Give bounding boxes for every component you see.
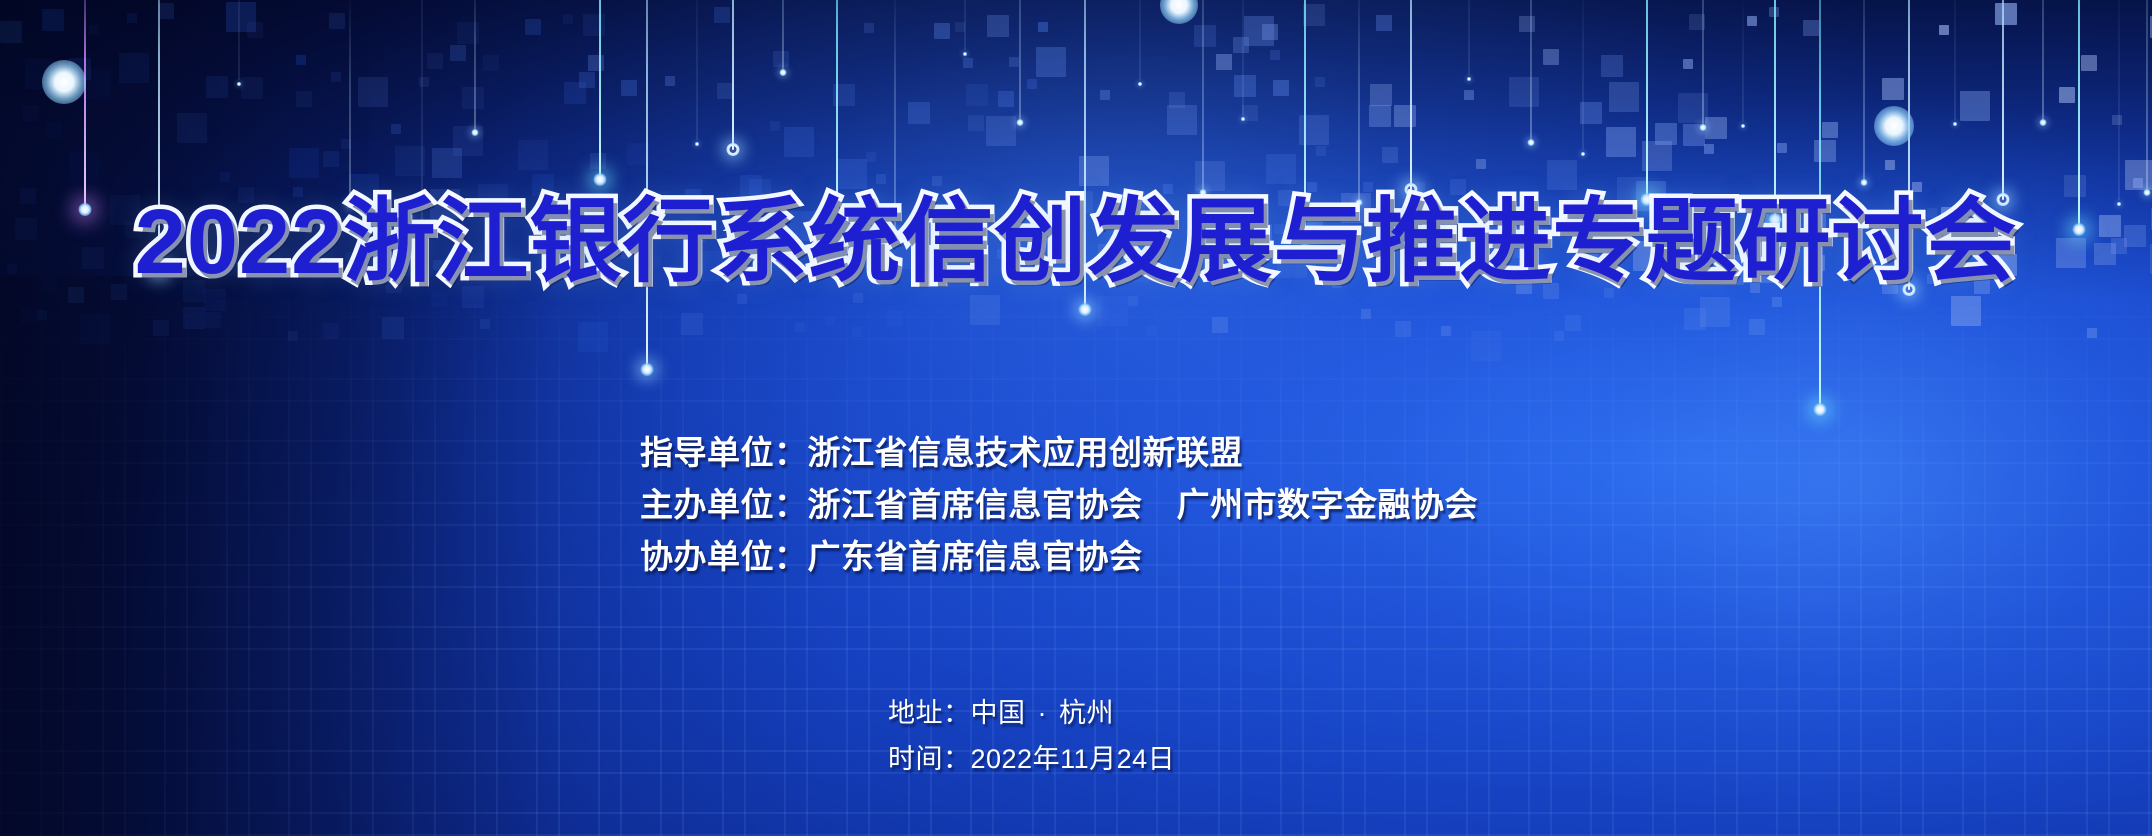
organizer-label: 指导单位：: [640, 434, 808, 471]
meta-label-date: 时间：: [888, 744, 971, 774]
meta-value-country: 中国: [971, 698, 1026, 728]
organizer-row-host: 主办单位：浙江省首席信息官协会广州市数字金融协会: [640, 479, 1478, 531]
organizer-value: 浙江省信息技术应用创新联盟: [808, 434, 1244, 471]
meta-value-date: 2022年11月24日: [971, 744, 1176, 774]
meta-row-date: 时间：2022年11月24日: [888, 736, 1175, 782]
conference-banner: 2022浙江银行系统信创发展与推进专题研讨会 指导单位：浙江省信息技术应用创新联…: [0, 0, 2152, 836]
organizer-value: 广东省首席信息官协会: [808, 538, 1143, 575]
meta-row-location: 地址：中国·杭州: [888, 690, 1175, 736]
organizer-value-secondary: 广州市数字金融协会: [1177, 486, 1479, 523]
organizer-label: 协办单位：: [640, 538, 808, 575]
meta-value-city: 杭州: [1059, 698, 1114, 728]
meta-separator-dot: ·: [1026, 690, 1060, 736]
organizer-row-guidance: 指导单位：浙江省信息技术应用创新联盟: [640, 427, 1478, 479]
organizer-list: 指导单位：浙江省信息技术应用创新联盟 主办单位：浙江省首席信息官协会广州市数字金…: [640, 427, 1478, 583]
organizer-value: 浙江省首席信息官协会: [808, 486, 1143, 523]
organizer-label: 主办单位：: [640, 486, 808, 523]
organizer-row-cohost: 协办单位：广东省首席信息官协会: [640, 531, 1478, 583]
event-meta: 地址：中国·杭州 时间：2022年11月24日: [888, 690, 1175, 782]
meta-label-location: 地址：: [888, 698, 971, 728]
page-title: 2022浙江银行系统信创发展与推进专题研讨会: [0, 196, 2152, 288]
